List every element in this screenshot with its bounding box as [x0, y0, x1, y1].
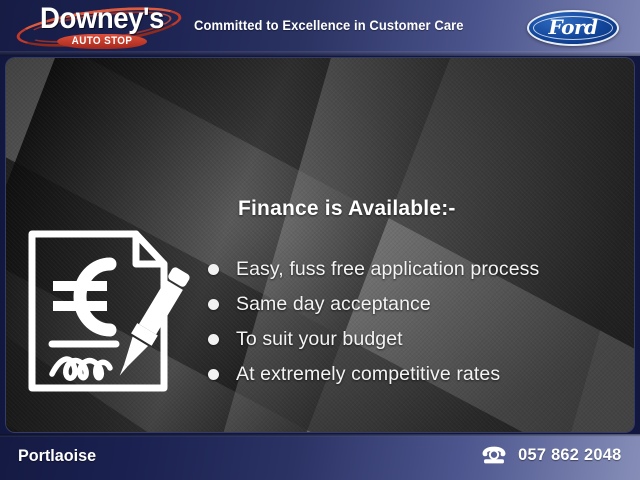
branch-location: Portlaoise — [18, 446, 96, 466]
main-content-panel: Finance is Available:- Easy, fuss free a… — [6, 58, 634, 432]
ford-oval-logo[interactable]: Ford — [527, 10, 619, 46]
euro-document-signature-pen-icon — [24, 226, 196, 396]
header-tagline: Committed to Excellence in Customer Care — [194, 18, 464, 33]
downeys-auto-stop-logo[interactable]: Downey's AUTO STOP — [14, 3, 184, 53]
page-title: Finance is Available:- — [238, 197, 456, 221]
ford-wordmark: Ford — [527, 17, 619, 38]
phone-number: 057 862 2048 — [519, 445, 622, 465]
telephone-icon — [481, 445, 507, 465]
header-bar: Downey's AUTO STOP Committed to Excellen… — [0, 0, 640, 56]
list-item: At extremely competitive rates — [208, 357, 628, 392]
list-item: Easy, fuss free application process — [208, 252, 628, 287]
advert-banner: Downey's AUTO STOP Committed to Excellen… — [0, 0, 640, 480]
benefits-list: Easy, fuss free application process Same… — [208, 252, 628, 392]
list-item-label: Same day acceptance — [236, 293, 431, 316]
dealer-subtitle: AUTO STOP — [62, 35, 143, 48]
bullet-dot-icon — [208, 299, 219, 310]
bullet-dot-icon — [208, 369, 219, 380]
footer-bar: Portlaoise 057 862 2048 — [0, 434, 640, 480]
phone-contact[interactable]: 057 862 2048 — [481, 445, 624, 465]
list-item: To suit your budget — [208, 322, 628, 357]
list-item-label: Easy, fuss free application process — [236, 258, 539, 281]
bullet-dot-icon — [208, 264, 219, 275]
dealer-name: Downey's — [39, 4, 164, 34]
list-item: Same day acceptance — [208, 287, 628, 322]
list-item-label: To suit your budget — [236, 328, 403, 351]
bullet-dot-icon — [208, 334, 219, 345]
list-item-label: At extremely competitive rates — [236, 363, 500, 386]
